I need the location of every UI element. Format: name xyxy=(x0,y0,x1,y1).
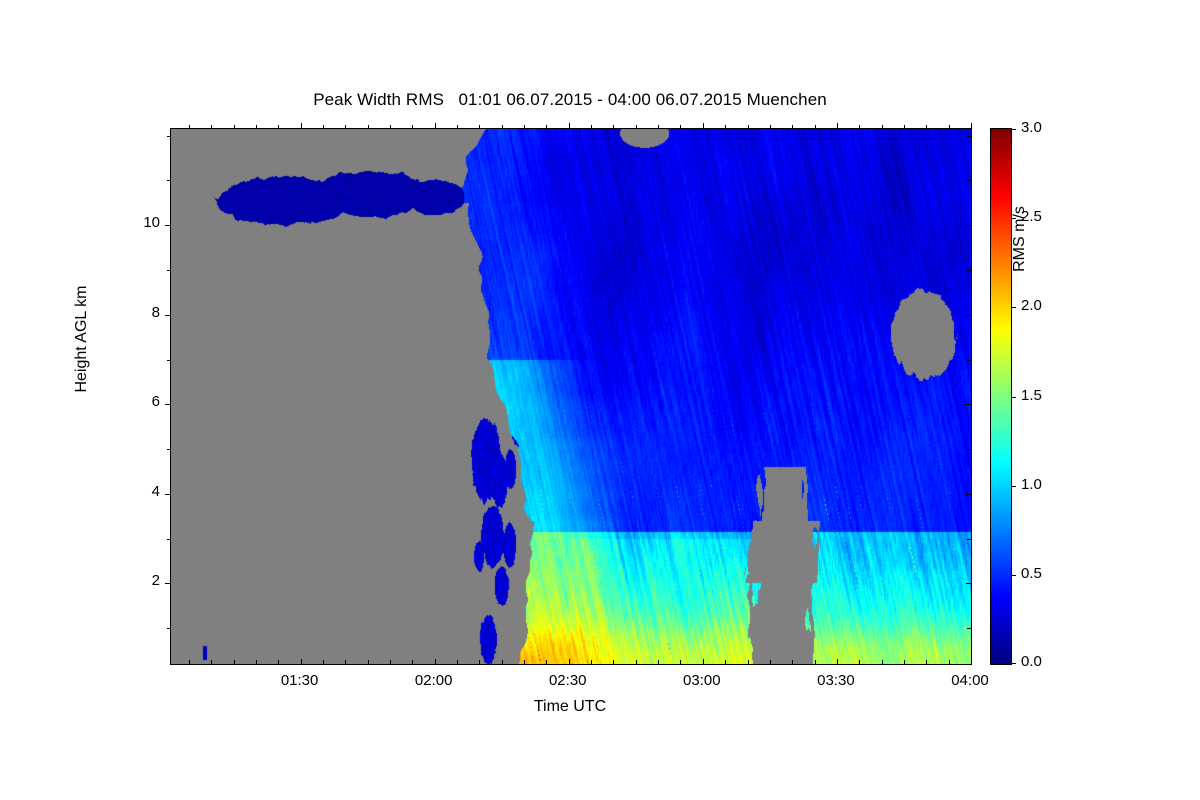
y-axis-tick xyxy=(966,404,971,405)
x-axis-tick xyxy=(703,659,704,664)
y-axis-minor-tick xyxy=(967,360,971,361)
x-axis-tick xyxy=(301,123,302,129)
y-axis-tick xyxy=(165,315,171,316)
x-axis-minor-tick xyxy=(546,125,547,129)
x-axis-minor-tick xyxy=(524,125,525,129)
y-axis-tick-label: 8 xyxy=(120,304,160,321)
y-axis-tick xyxy=(165,225,171,226)
x-axis-minor-tick xyxy=(770,125,771,129)
x-axis-minor-tick xyxy=(904,125,905,129)
x-axis-minor-tick xyxy=(613,125,614,129)
y-axis-minor-tick xyxy=(167,449,171,450)
x-axis-tick xyxy=(301,659,302,664)
colorbar: 0.00.51.01.52.02.53.0 xyxy=(990,128,1012,665)
x-axis-minor-tick xyxy=(211,125,212,129)
x-axis-minor-tick xyxy=(815,125,816,129)
x-axis-minor-tick xyxy=(323,660,324,664)
x-axis-minor-tick xyxy=(345,660,346,664)
x-axis-minor-tick xyxy=(457,125,458,129)
x-axis-minor-tick xyxy=(323,125,324,129)
y-axis-minor-tick xyxy=(167,136,171,137)
x-axis-minor-tick xyxy=(211,660,212,664)
x-axis-minor-tick xyxy=(502,125,503,129)
x-axis-tick xyxy=(703,123,704,129)
colorbar-tick-label: 3.0 xyxy=(1021,119,1042,136)
x-axis-tick-label: 01:30 xyxy=(260,672,340,689)
y-axis-tick-label: 6 xyxy=(120,393,160,410)
x-axis-minor-tick xyxy=(748,660,749,664)
x-axis-minor-tick xyxy=(189,660,190,664)
x-axis-minor-tick xyxy=(613,660,614,664)
x-axis-tick xyxy=(837,659,838,664)
y-axis-tick xyxy=(165,404,171,405)
y-axis-tick xyxy=(165,583,171,584)
x-axis-tick xyxy=(569,123,570,129)
x-axis-minor-tick xyxy=(926,125,927,129)
x-axis-minor-tick xyxy=(479,660,480,664)
x-axis-minor-tick xyxy=(479,125,480,129)
x-axis-minor-tick xyxy=(658,125,659,129)
y-axis-minor-tick xyxy=(167,360,171,361)
plot-area xyxy=(170,128,972,665)
x-axis-minor-tick xyxy=(502,660,503,664)
colorbar-tick-label: 0.0 xyxy=(1021,653,1042,670)
colorbar-label: RMS m/s xyxy=(1011,139,1029,339)
x-axis-minor-tick xyxy=(859,660,860,664)
heatmap-canvas xyxy=(171,129,971,664)
x-axis-minor-tick xyxy=(792,660,793,664)
lidar-time-height-figure: Peak Width RMS 01:01 06.07.2015 - 04:00 … xyxy=(0,0,1200,800)
x-axis-tick xyxy=(435,659,436,664)
y-axis-minor-tick xyxy=(967,136,971,137)
page-title: Peak Width RMS 01:01 06.07.2015 - 04:00 … xyxy=(0,90,1140,110)
colorbar-tick-label: 1.5 xyxy=(1021,387,1042,404)
colorbar-tick xyxy=(1011,397,1016,398)
x-axis-tick xyxy=(569,659,570,664)
y-axis-tick xyxy=(966,583,971,584)
x-axis-tick-label: 04:00 xyxy=(930,672,1010,689)
x-axis-tick-label: 02:00 xyxy=(394,672,474,689)
x-axis-minor-tick xyxy=(368,125,369,129)
x-axis-minor-tick xyxy=(815,660,816,664)
x-axis-minor-tick xyxy=(390,660,391,664)
x-axis-minor-tick xyxy=(949,125,950,129)
x-axis-minor-tick xyxy=(949,660,950,664)
colorbar-tick xyxy=(1011,575,1016,576)
y-axis-tick-label: 4 xyxy=(120,483,160,500)
x-axis-minor-tick xyxy=(591,660,592,664)
colorbar-tick xyxy=(1011,129,1016,130)
x-axis-minor-tick xyxy=(770,660,771,664)
x-axis-minor-tick xyxy=(680,660,681,664)
x-axis-minor-tick xyxy=(256,660,257,664)
x-axis-minor-tick xyxy=(636,660,637,664)
colorbar-tick-label: 1.0 xyxy=(1021,476,1042,493)
x-axis-tick xyxy=(435,123,436,129)
x-axis-minor-tick xyxy=(926,660,927,664)
x-axis-minor-tick xyxy=(256,125,257,129)
x-axis-tick xyxy=(971,123,972,129)
x-axis-minor-tick xyxy=(412,660,413,664)
x-axis-minor-tick xyxy=(725,125,726,129)
x-axis-minor-tick xyxy=(278,660,279,664)
y-axis-minor-tick xyxy=(967,539,971,540)
y-axis-minor-tick xyxy=(967,180,971,181)
x-axis-minor-tick xyxy=(792,125,793,129)
x-axis-minor-tick xyxy=(882,660,883,664)
x-axis-minor-tick xyxy=(368,660,369,664)
x-axis-minor-tick xyxy=(412,125,413,129)
y-axis-tick xyxy=(165,494,171,495)
x-axis-tick-label: 03:30 xyxy=(796,672,876,689)
x-axis-label: Time UTC xyxy=(170,698,970,716)
y-axis-tick xyxy=(966,225,971,226)
x-axis-minor-tick xyxy=(278,125,279,129)
x-axis-minor-tick xyxy=(680,125,681,129)
x-axis-minor-tick xyxy=(591,125,592,129)
y-axis-minor-tick xyxy=(167,628,171,629)
x-axis-minor-tick xyxy=(390,125,391,129)
y-axis-minor-tick xyxy=(167,270,171,271)
x-axis-tick-label: 02:30 xyxy=(528,672,608,689)
x-axis-tick xyxy=(971,659,972,664)
y-axis-tick xyxy=(966,315,971,316)
x-axis-tick-label: 03:00 xyxy=(662,672,742,689)
colorbar-tick-label: 0.5 xyxy=(1021,565,1042,582)
x-axis-minor-tick xyxy=(904,660,905,664)
colorbar-gradient xyxy=(991,129,1011,664)
x-axis-minor-tick xyxy=(234,660,235,664)
x-axis-minor-tick xyxy=(546,660,547,664)
y-axis-tick xyxy=(966,494,971,495)
x-axis-minor-tick xyxy=(189,125,190,129)
x-axis-minor-tick xyxy=(457,660,458,664)
x-axis-minor-tick xyxy=(658,660,659,664)
x-axis-minor-tick xyxy=(859,125,860,129)
y-axis-tick-label: 10 xyxy=(120,214,160,231)
y-axis-minor-tick xyxy=(167,180,171,181)
x-axis-minor-tick xyxy=(524,660,525,664)
x-axis-minor-tick xyxy=(725,660,726,664)
x-axis-minor-tick xyxy=(748,125,749,129)
x-axis-minor-tick xyxy=(636,125,637,129)
y-axis-label: Height AGL km xyxy=(73,239,91,439)
y-axis-minor-tick xyxy=(967,628,971,629)
y-axis-minor-tick xyxy=(967,449,971,450)
y-axis-minor-tick xyxy=(967,270,971,271)
x-axis-minor-tick xyxy=(345,125,346,129)
colorbar-tick xyxy=(1011,663,1016,664)
x-axis-tick xyxy=(837,123,838,129)
x-axis-minor-tick xyxy=(234,125,235,129)
x-axis-minor-tick xyxy=(882,125,883,129)
y-axis-minor-tick xyxy=(167,539,171,540)
colorbar-tick xyxy=(1011,486,1016,487)
y-axis-tick-label: 2 xyxy=(120,572,160,589)
